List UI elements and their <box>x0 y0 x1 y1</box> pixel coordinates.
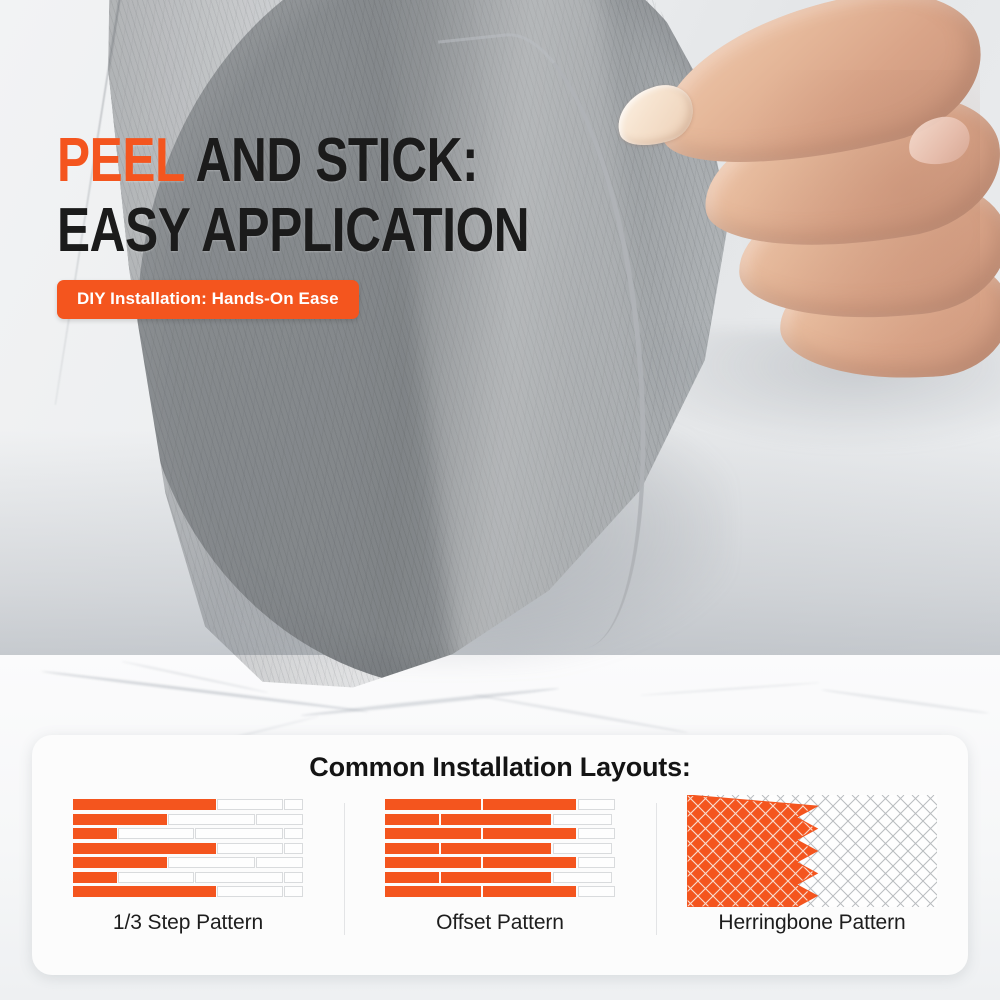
pattern-label-offset: Offset Pattern <box>436 911 564 935</box>
tile-white <box>284 872 303 883</box>
headline-accent-word: PEEL <box>57 126 184 195</box>
tile-white <box>256 857 303 868</box>
tile-white <box>578 857 616 868</box>
tile-white <box>284 799 303 810</box>
tile-white <box>195 828 283 839</box>
tile-white <box>256 814 303 825</box>
tile-orange <box>73 799 216 810</box>
tile-orange <box>385 857 481 868</box>
tile-white <box>553 872 613 883</box>
pattern-column-herringbone: Herringbone Pattern <box>656 795 968 961</box>
diy-installation-badge: DIY Installation: Hands-On Ease <box>57 280 359 319</box>
tile-orange <box>385 872 439 883</box>
tile-orange <box>441 843 552 854</box>
tile-orange <box>385 814 439 825</box>
headline-line-2: EASY APPLICATION <box>57 196 569 266</box>
tile-white <box>217 799 283 810</box>
tile-orange <box>73 857 167 868</box>
offset-diagram <box>385 799 615 903</box>
tile-white <box>553 843 613 854</box>
tile-white <box>118 872 194 883</box>
tile-orange <box>73 872 117 883</box>
tile-white <box>217 886 283 897</box>
headline-block: PEEL AND STICK: EASY APPLICATION DIY Ins… <box>57 126 697 319</box>
pattern-label-herringbone: Herringbone Pattern <box>718 911 905 935</box>
tile-white <box>578 828 616 839</box>
herringbone-diagram <box>687 795 937 907</box>
tile-orange <box>483 886 577 897</box>
headline-line-1-rest: AND STICK: <box>184 126 478 195</box>
tile-orange <box>73 843 216 854</box>
tile-white <box>284 828 303 839</box>
tile-orange <box>385 828 481 839</box>
tile-orange <box>73 814 167 825</box>
tile-white <box>578 886 616 897</box>
tile-orange <box>483 857 577 868</box>
pattern-swatch-one-third-step <box>73 795 303 907</box>
one-third-step-diagram <box>73 799 303 903</box>
pattern-label-one-third-step: 1/3 Step Pattern <box>113 911 263 935</box>
knuckle-shading <box>730 70 980 370</box>
tile-white <box>168 814 255 825</box>
tile-white <box>217 843 283 854</box>
tile-white <box>168 857 255 868</box>
tile-orange <box>385 799 481 810</box>
pattern-column-offset: Offset Pattern <box>344 795 656 961</box>
tile-white <box>195 872 283 883</box>
tile-white <box>284 886 303 897</box>
pattern-column-one-third-step: 1/3 Step Pattern <box>32 795 344 961</box>
tile-orange <box>441 872 552 883</box>
headline-line-1: PEEL AND STICK: <box>57 126 569 196</box>
tile-orange <box>73 886 216 897</box>
tile-white <box>118 828 194 839</box>
tile-orange <box>385 886 481 897</box>
tile-white <box>284 843 303 854</box>
tile-orange <box>483 799 577 810</box>
tile-orange <box>441 814 552 825</box>
tile-white <box>553 814 613 825</box>
pattern-swatch-offset <box>385 795 615 907</box>
herringbone-svg <box>687 795 937 907</box>
tile-orange <box>483 828 577 839</box>
pattern-swatch-herringbone <box>687 795 937 907</box>
installation-layouts-card: Common Installation Layouts: 1/3 Step Pa… <box>32 735 968 975</box>
tile-orange <box>73 828 117 839</box>
pattern-columns: 1/3 Step Pattern Offset Pattern Herringb… <box>32 795 968 961</box>
tile-orange <box>385 843 439 854</box>
tile-white <box>578 799 616 810</box>
card-title: Common Installation Layouts: <box>32 752 968 783</box>
